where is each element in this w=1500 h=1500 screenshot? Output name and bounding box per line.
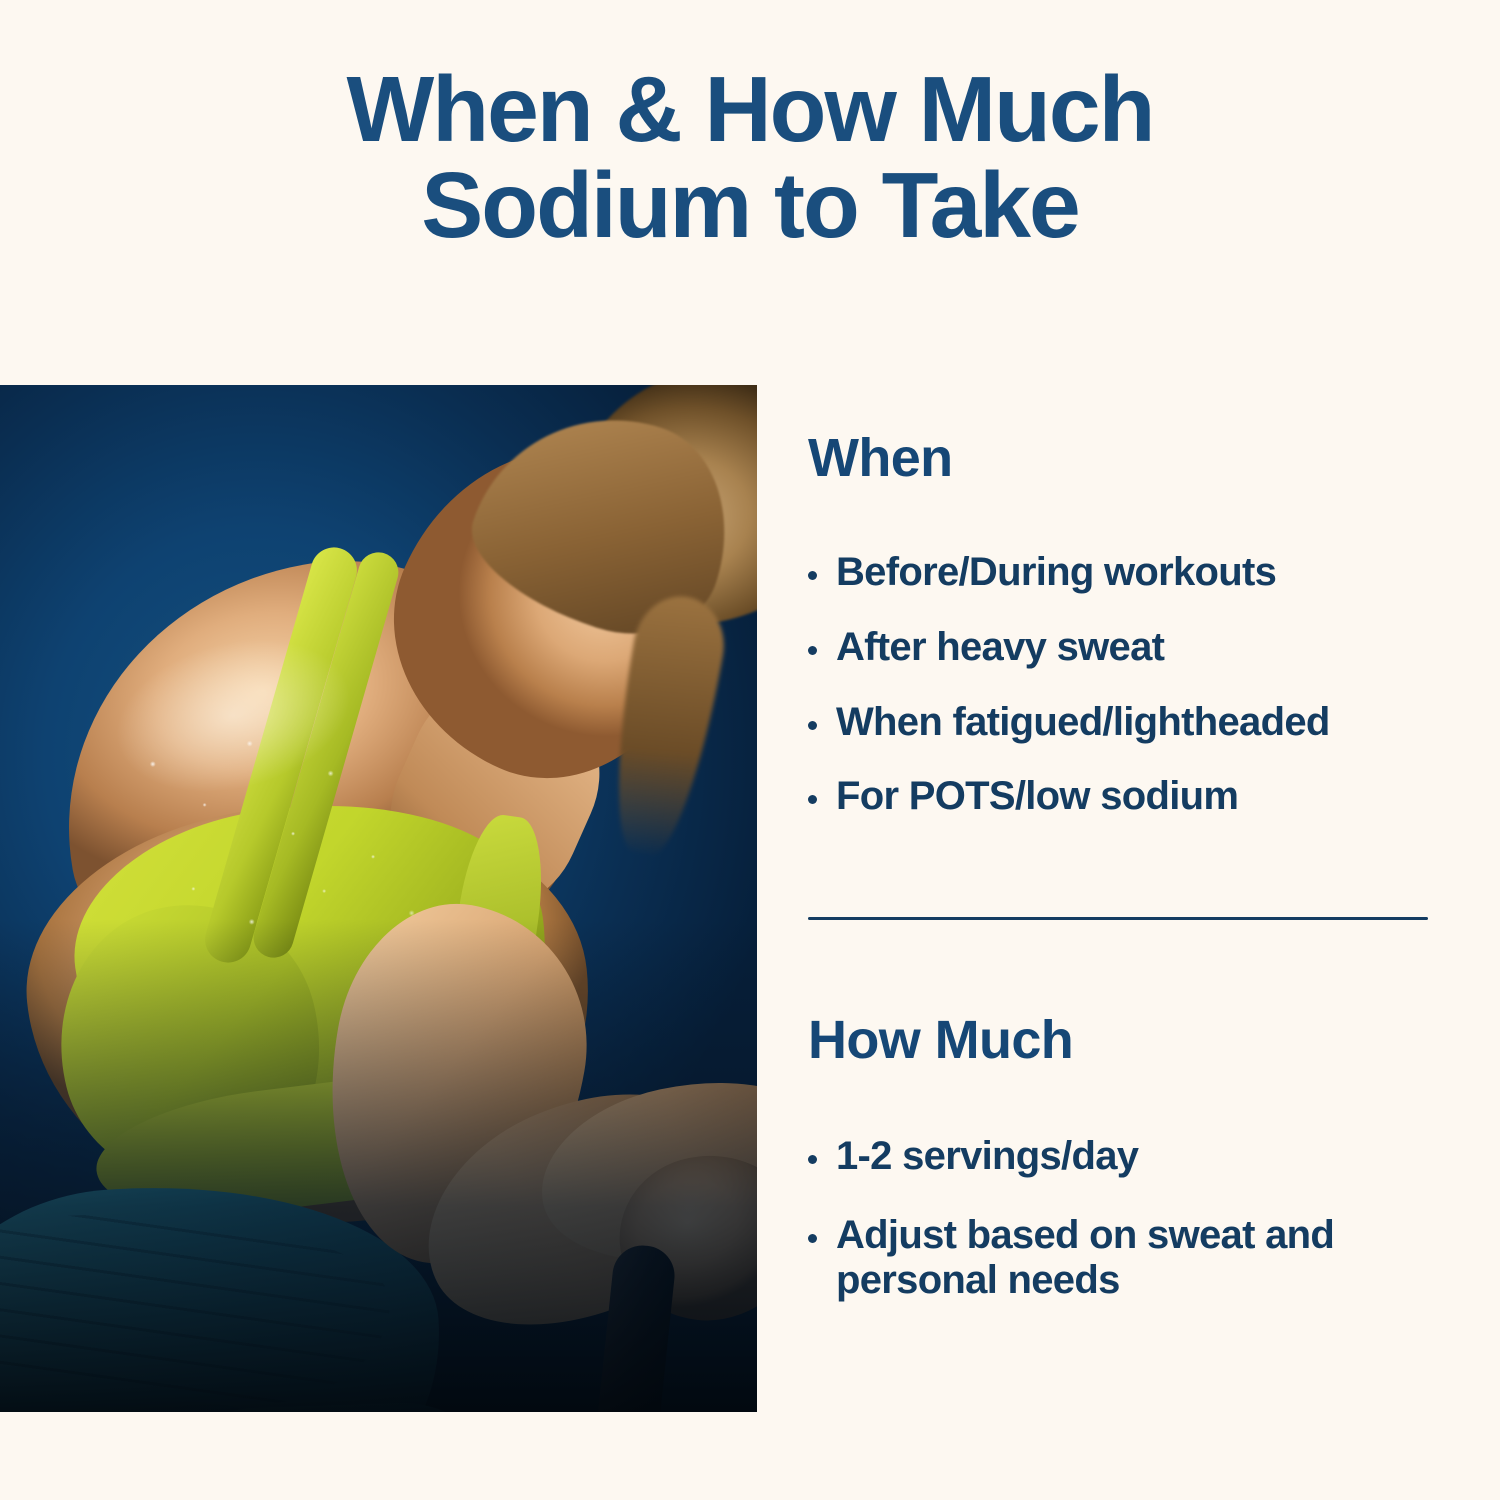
list-item: For POTS/low sodium (808, 774, 1438, 819)
list-item: 1-2 servings/day (808, 1134, 1438, 1179)
list-item: Adjust based on sweat and personal needs (808, 1213, 1438, 1303)
section-when-heading: When (808, 431, 1438, 485)
section-how-much: How Much 1-2 servings/day Adjust based o… (808, 1013, 1438, 1302)
workout-photo (0, 385, 757, 1412)
section-divider (808, 917, 1428, 920)
page-title-line-1: When & How Much (0, 62, 1500, 158)
section-how-much-list: 1-2 servings/day Adjust based on sweat a… (808, 1134, 1438, 1302)
list-item: Before/During workouts (808, 550, 1438, 595)
page-title-line-2: Sodium to Take (0, 158, 1500, 254)
page-title: When & How Much Sodium to Take (0, 62, 1500, 254)
section-when: When Before/During workouts After heavy … (808, 431, 1438, 819)
section-when-list: Before/During workouts After heavy sweat… (808, 550, 1438, 819)
info-column: When Before/During workouts After heavy … (808, 385, 1438, 1303)
photo-vignette (0, 385, 757, 1412)
list-item: After heavy sweat (808, 625, 1438, 670)
section-how-much-heading: How Much (808, 1013, 1438, 1067)
list-item: When fatigued/lightheaded (808, 700, 1438, 745)
